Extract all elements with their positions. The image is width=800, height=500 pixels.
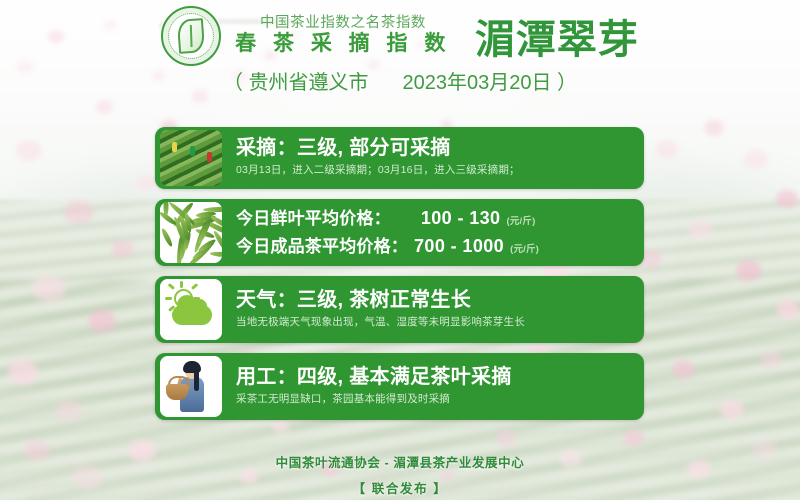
card-labour-title: 用工：四级, 基本满足茶叶采摘 [236, 366, 644, 389]
poster-footer: 中国茶叶流通协会 - 湄潭县茶产业发展中心 【 联合发布 】 [0, 452, 800, 497]
sun-ray [180, 281, 183, 288]
footer-publishers: 中国茶叶流通协会 - 湄潭县茶产业发展中心 [0, 452, 800, 471]
sun-ray [191, 283, 198, 289]
card-weather-note: 当地无极端天气现象出现，气温、湿度等未明显影响茶芽生长 [236, 315, 644, 331]
report-date: 2023年03月20日 ） [403, 66, 578, 95]
card-labour[interactable]: 用工：四级, 基本满足茶叶采摘 采茶工无明显缺口，茶园基本能得到及时采摘 [155, 353, 644, 420]
tea-leaf-seal-icon [161, 6, 221, 66]
header-location-date-row: （ 贵州省遵义市 2023年03月20日 ） [0, 66, 800, 95]
header-title-row: 中国茶业指数之名茶指数 春 茶 采 摘 指 数 湄潭翠芽 [0, 8, 800, 64]
leaf-glyph [177, 18, 205, 54]
sun-ray [168, 283, 175, 289]
card-weather-body: 天气：三级, 茶树正常生长 当地无极端天气现象出现，气温、湿度等未明显影响茶芽生… [222, 289, 644, 331]
card-labour-note: 采茶工无明显缺口，茶园基本能得到及时采摘 [236, 392, 644, 408]
price-label-fresh: 今日鲜叶平均价格： [236, 206, 391, 232]
fresh-tea-leaves-icon [160, 202, 222, 263]
card-weather[interactable]: 天气：三级, 茶树正常生长 当地无极端天气现象出现，气温、湿度等未明显影响茶芽生… [155, 276, 644, 343]
page-title: 春 茶 采 摘 指 数 [235, 32, 451, 56]
price-row-finished: 今日成品茶平均价格： 700 - 1000 (元/斤) [236, 233, 644, 261]
index-card-list: 采摘：三级, 部分可采摘 03月13日，进入二级采摘期；03月16日，进入三级采… [155, 127, 644, 430]
brand-name: 湄潭翠芽 [475, 7, 639, 65]
header-text-block: 中国茶业指数之名茶指数 春 茶 采 摘 指 数 [235, 16, 451, 56]
footer-joint-release: 【 联合发布 】 [0, 478, 800, 497]
worker-figure [190, 146, 195, 156]
price-unit-fresh: (元/斤) [506, 215, 535, 230]
price-label-finished: 今日成品茶平均价格： [236, 234, 408, 260]
card-weather-title: 天气：三级, 茶树正常生长 [236, 289, 644, 312]
header-subtitle: 中国茶业指数之名茶指数 [260, 16, 426, 31]
card-harvest-body: 采摘：三级, 部分可采摘 03月13日，进入二级采摘期；03月16日，进入三级采… [222, 137, 644, 179]
card-harvest-title: 采摘：三级, 部分可采摘 [236, 137, 644, 160]
location-text: （ 贵州省遵义市 [223, 66, 369, 95]
price-value-fresh: 100 - 130 [421, 205, 501, 233]
cloud-glyph [172, 305, 212, 325]
tea-field-art [160, 130, 222, 186]
tea-picker-worker-icon [160, 356, 222, 417]
tea-leaf [210, 251, 222, 258]
poster-header: 中国茶业指数之名茶指数 春 茶 采 摘 指 数 湄潭翠芽 （ 贵州省遵义市 20… [0, 0, 800, 102]
price-unit-finished: (元/斤) [510, 243, 539, 258]
card-labour-body: 用工：四级, 基本满足茶叶采摘 采茶工无明显缺口，茶园基本能得到及时采摘 [222, 366, 644, 408]
card-harvest[interactable]: 采摘：三级, 部分可采摘 03月13日，进入二级采摘期；03月16日，进入三级采… [155, 127, 644, 189]
worker-figure [172, 142, 177, 152]
worker-figure [207, 152, 212, 162]
weather-art [160, 279, 222, 340]
sun-ray [165, 297, 172, 300]
tea-leaf [160, 227, 174, 247]
tea-field-workers-icon [160, 130, 222, 186]
price-value-finished: 700 - 1000 [414, 233, 504, 261]
sun-cloud-weather-icon [160, 279, 222, 340]
card-price-body: 今日鲜叶平均价格： 100 - 130 (元/斤) 今日成品茶平均价格： 700… [222, 205, 644, 261]
price-row-fresh: 今日鲜叶平均价格： 100 - 130 (元/斤) [236, 205, 644, 233]
card-price[interactable]: 今日鲜叶平均价格： 100 - 130 (元/斤) 今日成品茶平均价格： 700… [155, 199, 644, 266]
tea-leaves-art [160, 202, 222, 263]
tea-picker-art [160, 356, 222, 417]
picker-braid [194, 371, 199, 391]
card-harvest-note: 03月13日，进入二级采摘期；03月16日，进入三级采摘期； [236, 163, 644, 179]
tea-index-poster: 中国茶业指数之名茶指数 春 茶 采 摘 指 数 湄潭翠芽 （ 贵州省遵义市 20… [0, 0, 800, 500]
basket-body [166, 384, 188, 400]
